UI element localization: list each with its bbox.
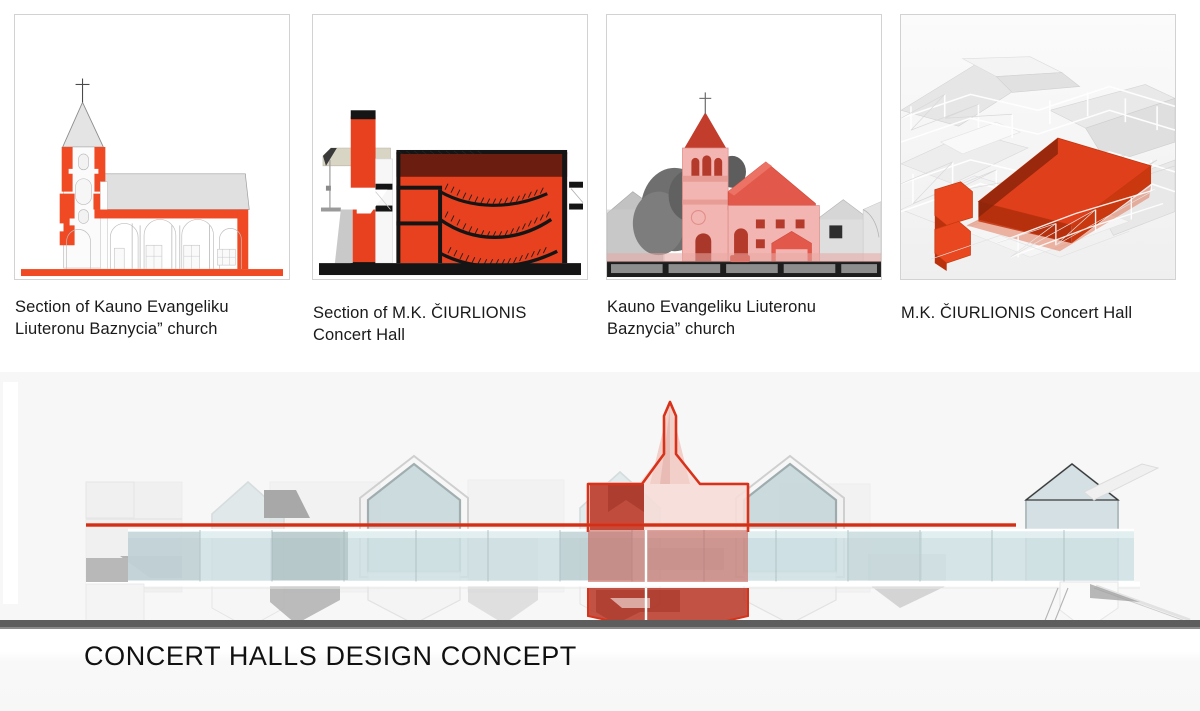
caption-church-photo: Kauno Evangeliku Liuteronu Baznycia” chu… — [607, 297, 895, 341]
hall-section-drawing — [313, 15, 587, 279]
caption-church-section: Section of Kauno Evangeliku Liuteronu Ba… — [15, 297, 295, 341]
caption-hall-axonometric: M.K. ČIURLIONIS Concert Hall — [901, 303, 1191, 325]
page-title: CONCERT HALLS DESIGN CONCEPT — [84, 641, 577, 672]
reference-panel-row: Section of Kauno Evangeliku Liuteronu Ba… — [0, 0, 1200, 372]
panel-hall-section[interactable] — [312, 14, 588, 280]
caption-line: Baznycia” church — [607, 320, 735, 338]
caption-line: Kauno Evangeliku Liuteronu — [607, 298, 816, 316]
panel-hall-axonometric[interactable] — [900, 14, 1176, 280]
church-section-drawing — [15, 15, 289, 279]
caption-line: Liuteronu Baznycia” church — [15, 320, 218, 338]
caption-line: Section of M.K. ČIURLIONIS — [313, 304, 527, 322]
caption-hall-section: Section of M.K. ČIURLIONIS Concert Hall — [313, 303, 598, 347]
slide-root: Section of Kauno Evangeliku Liuteronu Ba… — [0, 0, 1200, 711]
hall-axonometric-render — [901, 15, 1175, 279]
panel-church-section[interactable] — [14, 14, 290, 280]
concept-elevation-drawing — [0, 372, 1200, 622]
caption-line: M.K. ČIURLIONIS Concert Hall — [901, 304, 1132, 322]
panel-church-photo[interactable] — [606, 14, 882, 280]
church-photo-overlay — [607, 15, 881, 279]
caption-line: Section of Kauno Evangeliku — [15, 298, 229, 316]
caption-line: Concert Hall — [313, 326, 405, 344]
ground-line — [0, 620, 1200, 627]
concept-elevation[interactable] — [0, 372, 1200, 622]
